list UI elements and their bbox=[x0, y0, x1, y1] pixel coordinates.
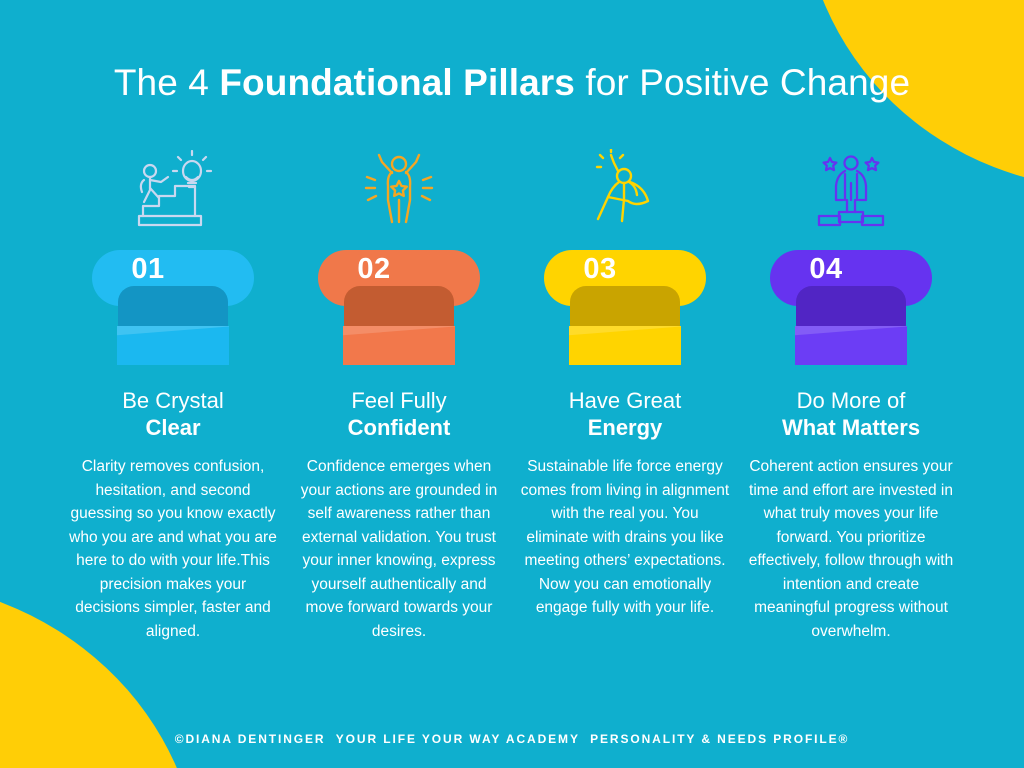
footer-credit: ©DIANA DENTINGER YOUR LIFE YOUR WAY ACAD… bbox=[0, 732, 1024, 746]
pillar-graphic-02: 02 bbox=[318, 250, 480, 365]
pillar-body-text: Confidence emerges when your actions are… bbox=[294, 455, 504, 643]
pillar-heading-line2: Energy bbox=[569, 414, 682, 441]
pillar-shaft-highlight bbox=[795, 326, 907, 336]
pillar-heading-line2: What Matters bbox=[782, 414, 920, 441]
pillar-card-03: 03 Have Great Energy Sustainable life fo… bbox=[512, 140, 738, 620]
infographic-canvas: The 4 Foundational Pillars for Positive … bbox=[0, 0, 1024, 768]
pillar-heading: Feel Fully Confident bbox=[348, 387, 451, 441]
person-climbing-stairs-lightbulb-icon bbox=[128, 140, 218, 240]
pillar-body-text: Coherent action ensures your time and ef… bbox=[746, 455, 956, 643]
pillar-heading-line1: Feel Fully bbox=[351, 388, 446, 413]
pillar-shaft-highlight bbox=[117, 326, 229, 336]
pillar-shaft bbox=[117, 326, 229, 365]
pillar-heading: Be Crystal Clear bbox=[122, 387, 223, 441]
pillars-row: 01 Be Crystal Clear Clarity removes conf… bbox=[0, 140, 1024, 643]
pillar-card-02: 02 Feel Fully Confident Confidence emerg… bbox=[286, 140, 512, 643]
pillar-card-01: 01 Be Crystal Clear Clarity removes conf… bbox=[60, 140, 286, 643]
pillar-graphic-01: 01 bbox=[92, 250, 254, 365]
pillar-echinus bbox=[118, 286, 228, 328]
pillar-number: 02 bbox=[318, 250, 430, 289]
pillar-echinus bbox=[570, 286, 680, 328]
pillar-heading-line1: Have Great bbox=[569, 388, 682, 413]
pillar-heading-line1: Do More of bbox=[797, 388, 906, 413]
title-emphasis: Foundational Pillars bbox=[219, 62, 575, 103]
pillar-number: 03 bbox=[544, 250, 656, 289]
pillar-body-text: Sustainable life force energy comes from… bbox=[520, 455, 730, 620]
page-title: The 4 Foundational Pillars for Positive … bbox=[0, 62, 1024, 104]
pillar-shaft bbox=[569, 326, 681, 365]
pillar-graphic-03: 03 bbox=[544, 250, 706, 365]
winner-podium-stars-icon bbox=[809, 140, 893, 240]
pillar-echinus bbox=[344, 286, 454, 328]
pillar-number: 04 bbox=[770, 250, 882, 289]
superhero-cape-figure-icon bbox=[584, 140, 666, 240]
pillar-shaft bbox=[343, 326, 455, 365]
pillar-echinus bbox=[796, 286, 906, 328]
pillar-shaft-highlight bbox=[343, 326, 455, 336]
pillar-heading: Do More of What Matters bbox=[782, 387, 920, 441]
person-arms-raised-star-icon bbox=[359, 140, 439, 240]
pillar-graphic-04: 04 bbox=[770, 250, 932, 365]
title-lead: The 4 bbox=[114, 62, 220, 103]
title-trail: for Positive Change bbox=[575, 62, 910, 103]
pillar-heading-line2: Clear bbox=[122, 414, 223, 441]
pillar-card-04: 04 Do More of What Matters Coherent acti… bbox=[738, 140, 964, 643]
pillar-heading: Have Great Energy bbox=[569, 387, 682, 441]
pillar-heading-line1: Be Crystal bbox=[122, 388, 223, 413]
pillar-heading-line2: Confident bbox=[348, 414, 451, 441]
pillar-body-text: Clarity removes confusion, hesitation, a… bbox=[68, 455, 278, 643]
pillar-shaft bbox=[795, 326, 907, 365]
pillar-shaft-highlight bbox=[569, 326, 681, 336]
pillar-number: 01 bbox=[92, 250, 204, 289]
